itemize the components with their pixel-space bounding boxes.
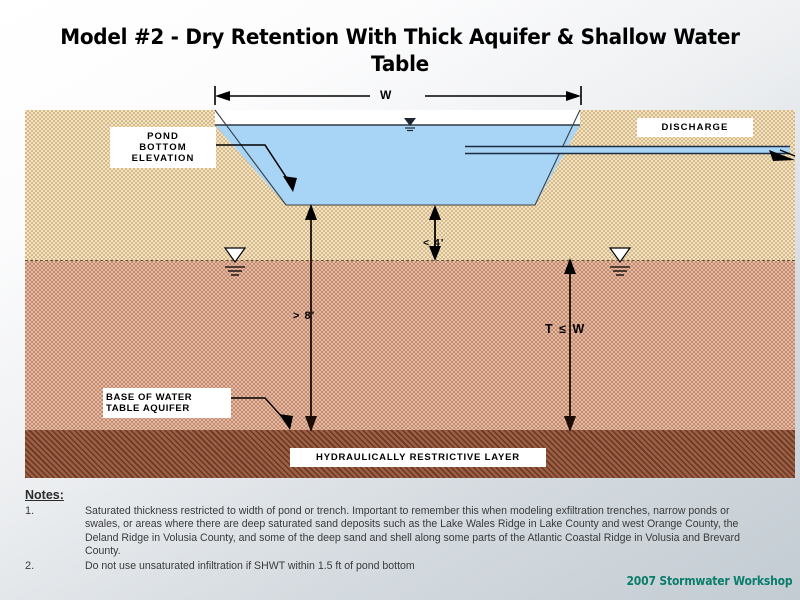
dimension-label-aquifer-thickness: > 8' xyxy=(293,310,315,322)
unsaturated-depth-dimension xyxy=(429,205,441,261)
page-title: Model #2 - Dry Retention With Thick Aqui… xyxy=(56,24,744,78)
dimension-label-width: W xyxy=(380,88,392,102)
note-text: Saturated thickness restricted to width … xyxy=(85,505,767,559)
base-aquifer-leader xyxy=(227,398,293,430)
dimension-label-unsaturated-depth: < 4' xyxy=(423,237,444,249)
dimension-label-saturated-thickness: T ≤ W xyxy=(545,322,586,336)
note-item: 1. Saturated thickness restricted to wid… xyxy=(25,505,795,559)
notes-heading: Notes: xyxy=(25,488,795,502)
note-number: 2. xyxy=(25,560,85,572)
discharge-label: DISCHARGE xyxy=(637,118,753,137)
water-table-symbol-left xyxy=(225,248,245,275)
slide: Model #2 - Dry Retention With Thick Aqui… xyxy=(0,0,800,600)
workshop-footer: 2007 Stormwater Workshop xyxy=(626,574,792,588)
notes-section: Notes: 1. Saturated thickness restricted… xyxy=(25,488,795,574)
note-number: 1. xyxy=(25,505,85,517)
base-of-aquifer-label: BASE OF WATER TABLE AQUIFER xyxy=(103,388,231,418)
restrictive-layer-label: HYDRAULICALLY RESTRICTIVE LAYER xyxy=(290,448,546,467)
note-item: 2. Do not use unsaturated infiltration i… xyxy=(25,560,795,573)
pond-bottom-elevation-label: POND BOTTOM ELEVATION xyxy=(110,127,216,168)
pond-water-body xyxy=(215,125,580,205)
width-dimension xyxy=(215,86,581,105)
water-table-symbol-right xyxy=(610,248,630,275)
saturated-thickness-dimension xyxy=(564,258,576,432)
pond-air-gap xyxy=(215,110,580,125)
cross-section-diagram: POND BOTTOM ELEVATION DISCHARGE BASE OF … xyxy=(25,110,795,478)
note-text: Do not use unsaturated infiltration if S… xyxy=(85,560,767,573)
